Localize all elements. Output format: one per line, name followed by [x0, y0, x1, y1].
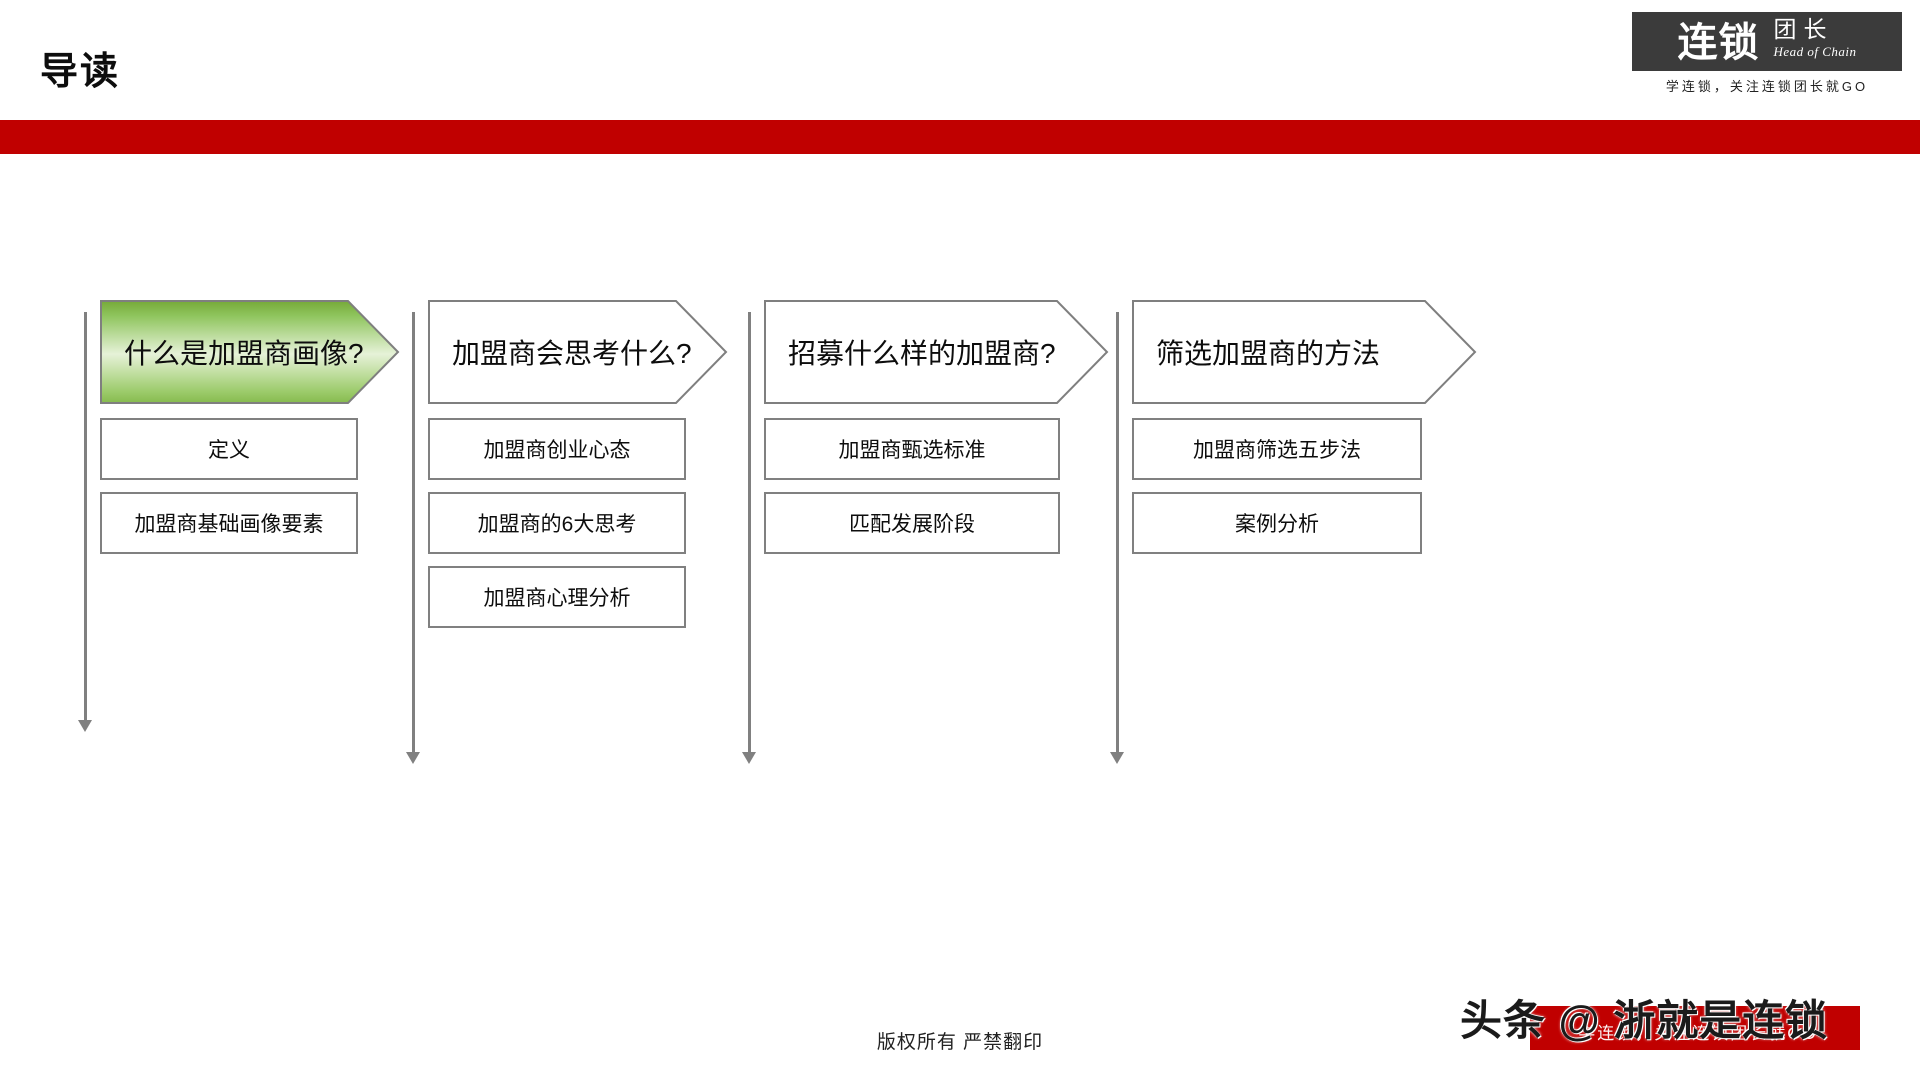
item-box[interactable]: 匹配发展阶段 — [764, 492, 1060, 554]
item-box[interactable]: 定义 — [100, 418, 358, 480]
chevron-heading-4[interactable]: 筛选加盟商的方法 — [1132, 300, 1510, 404]
item-list-4: 加盟商筛选五步法 案例分析 — [1132, 418, 1510, 554]
chevron-label-2: 加盟商会思考什么? — [428, 332, 692, 372]
item-box[interactable]: 案例分析 — [1132, 492, 1422, 554]
chevron-heading-2[interactable]: 加盟商会思考什么? — [428, 300, 796, 404]
item-box[interactable]: 加盟商的6大思考 — [428, 492, 686, 554]
chevron-label-1: 什么是加盟商画像? — [100, 332, 364, 372]
item-box[interactable]: 加盟商筛选五步法 — [1132, 418, 1422, 480]
item-box[interactable]: 加盟商创业心态 — [428, 418, 686, 480]
flow-column-2: 加盟商会思考什么? 加盟商创业心态 加盟商的6大思考 加盟商心理分析 — [406, 300, 796, 640]
item-list-2: 加盟商创业心态 加盟商的6大思考 加盟商心理分析 — [428, 418, 796, 628]
chevron-label-4: 筛选加盟商的方法 — [1132, 332, 1380, 372]
flow-column-4: 筛选加盟商的方法 加盟商筛选五步法 案例分析 — [1110, 300, 1510, 566]
item-box[interactable]: 加盟商甄选标准 — [764, 418, 1060, 480]
item-list-3: 加盟商甄选标准 匹配发展阶段 — [764, 418, 1142, 554]
process-flow: 什么是加盟商画像? 定义 加盟商基础画像要素 加盟商会思考什么? 加盟商创业心态… — [0, 0, 1920, 1080]
chevron-label-3: 招募什么样的加盟商? — [764, 332, 1056, 372]
flow-column-3: 招募什么样的加盟商? 加盟商甄选标准 匹配发展阶段 — [742, 300, 1142, 566]
watermark-handle-text: 头条 @ 浙就是连锁 — [1460, 987, 1900, 1048]
item-box[interactable]: 加盟商基础画像要素 — [100, 492, 358, 554]
chevron-heading-3[interactable]: 招募什么样的加盟商? — [764, 300, 1142, 404]
watermark: 学连锁，关注连锁团长就GO 头条 @ 浙就是连锁 — [1460, 980, 1900, 1066]
item-box[interactable]: 加盟商心理分析 — [428, 566, 686, 628]
